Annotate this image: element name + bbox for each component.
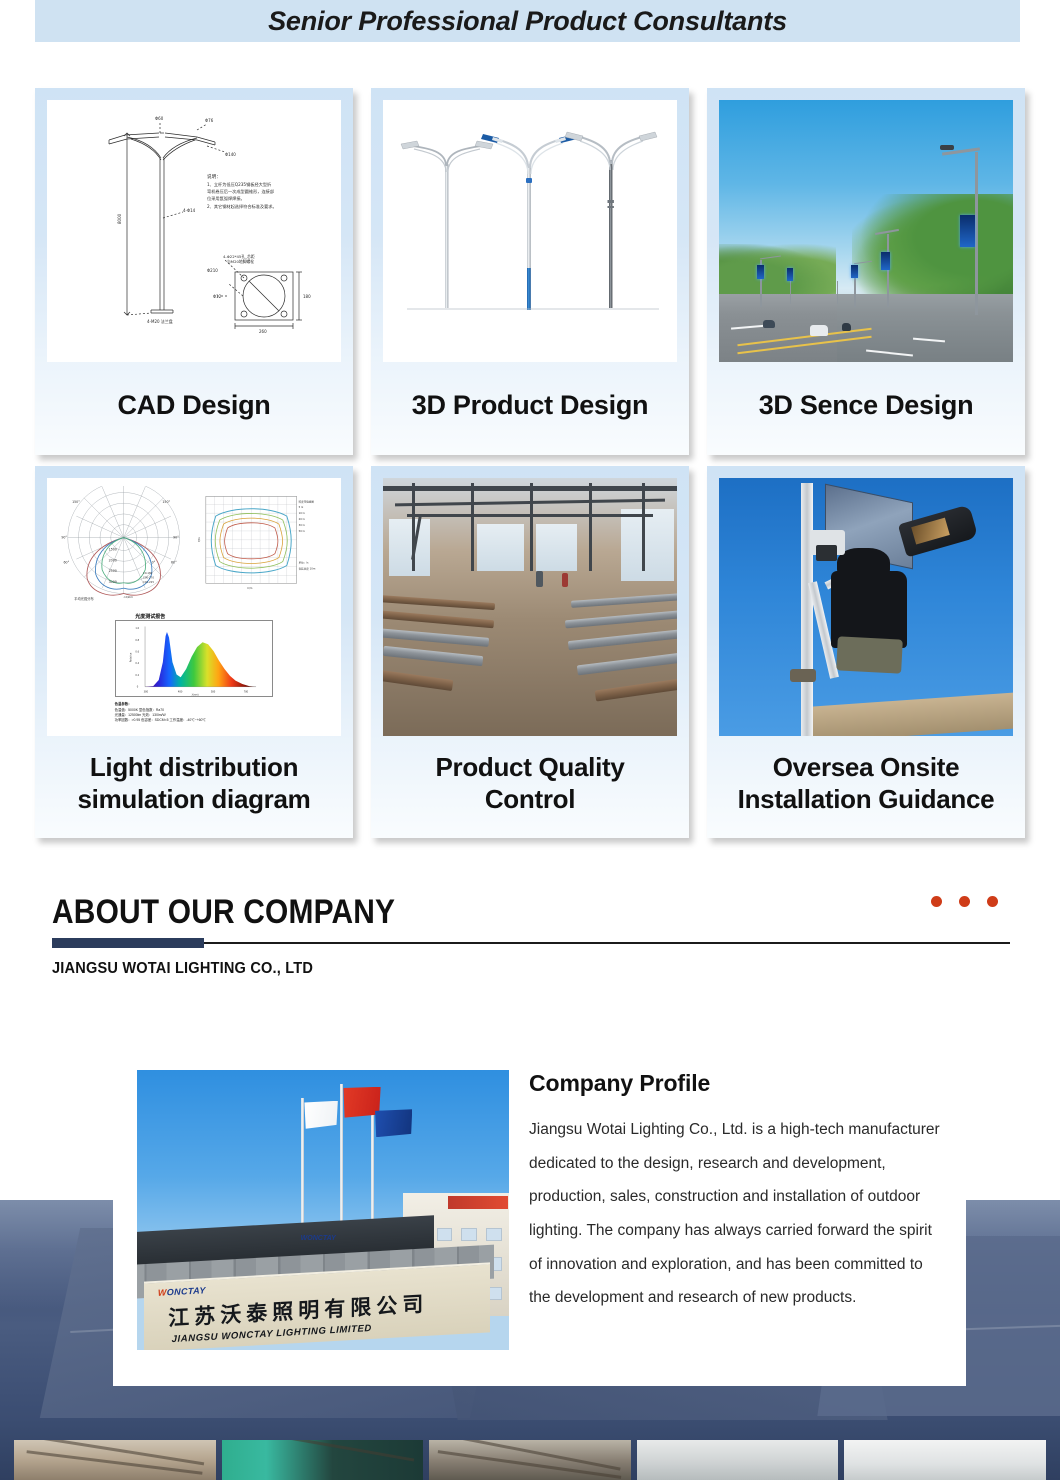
led-pole-banner-left (757, 265, 764, 279)
steel-pipe-l1 (383, 595, 495, 610)
svg-text:8000: 8000 (117, 213, 122, 224)
isolux-utilization-diagram: 照度等值线图 5 lx10 lx 20 lx30 lx 50 lx E/lx C… (194, 488, 332, 602)
svg-text:安装高度 10m: 安装高度 10m (299, 567, 316, 571)
led-pole-banner-mid (881, 252, 890, 270)
steel-pipe-r1 (571, 593, 677, 608)
svg-text:4-Φ14: 4-Φ14 (183, 208, 196, 213)
svg-text:C/m: C/m (247, 586, 253, 590)
roof-logo-text: WONCTAY (301, 1235, 336, 1242)
about-decor-dots (931, 896, 998, 907)
service-card-cad-design[interactable]: Φ60 Φ76 Φ140 8000 4-Φ14 4-M20 法兰盘 4-Φ22*… (35, 88, 353, 455)
column-3 (530, 483, 533, 571)
car-far (842, 323, 851, 331)
service-card-product-quality-control[interactable]: Product Quality Control (371, 466, 689, 838)
svg-text:2000: 2000 (108, 558, 116, 562)
cad-drawing: Φ60 Φ76 Φ140 8000 4-Φ14 4-M20 法兰盘 4-Φ22*… (47, 100, 341, 362)
page-title-band: Senior Professional Product Consultants (35, 0, 1020, 42)
lamp-mast (801, 483, 813, 736)
company-profile-text: Company Profile Jiangsu Wotai Lighting C… (509, 1038, 966, 1386)
flag-blue-company (375, 1109, 412, 1137)
photometric-report: 150°150° 90°90° 60°60° 15002000 25003000… (47, 478, 341, 736)
svg-text:580: 580 (210, 690, 215, 693)
steel-pipe-r3 (568, 629, 677, 650)
steel-pipe-r2 (565, 609, 677, 628)
onsite-installation-media (719, 478, 1013, 736)
three-lamp-poles-media (383, 100, 677, 362)
factory-workshop-media (383, 478, 677, 736)
svg-text:C45-225: C45-225 (143, 579, 154, 583)
about-divider (52, 938, 1010, 948)
worker-1 (536, 571, 543, 587)
svg-text:1.0: 1.0 (135, 627, 139, 630)
service-card-label: Product Quality Control (383, 736, 677, 838)
worker-2 (562, 573, 568, 587)
decor-dot-3 (987, 896, 998, 907)
workshop-window-left (389, 519, 430, 576)
service-card-label: Light distribution simulation diagram (47, 736, 341, 838)
svg-text:C90-270: C90-270 (143, 575, 154, 579)
company-profile-panel: WONCTAY WONCTAY 江苏沃泰照明有限公司 JIANGSU WONCT… (113, 1038, 966, 1386)
factory-workshop-photo (383, 478, 677, 736)
led-pole-banner-3 (851, 265, 857, 278)
about-heading: ABOUT OUR COMPANY (52, 893, 895, 932)
svg-text:位采用氩弧焊焊接。: 位采用氩弧焊焊接。 (207, 195, 245, 202)
svg-text:Φ76: Φ76 (205, 118, 214, 123)
workshop-window-center-2 (536, 524, 577, 570)
about-divider-accent-bar (52, 938, 204, 948)
thumbnail-workshop-1 (14, 1440, 216, 1480)
svg-text:0.8: 0.8 (135, 639, 139, 642)
svg-text:5 lx: 5 lx (299, 506, 304, 510)
thumbnail-office-5 (844, 1440, 1046, 1480)
svg-text:90°: 90° (173, 535, 179, 539)
spec-line-3: 功率因数：>0.95 色容差：SDCM<5 工作温度：-40℃~+60℃ (115, 718, 321, 723)
svg-text:60°: 60° (171, 560, 177, 564)
svg-text:1、立杆为低压Q235钢板经大型折: 1、立杆为低压Q235钢板经大型折 (207, 181, 271, 188)
worker-shoe (790, 669, 816, 682)
svg-text:Φ210: Φ210 (207, 268, 218, 273)
flag-white-company (304, 1101, 337, 1129)
svg-text:平均光强分布: 平均光强分布 (74, 596, 94, 601)
svg-text:50 lx: 50 lx (299, 529, 306, 533)
svg-text:150°: 150° (162, 500, 170, 504)
street-scene-media (719, 100, 1013, 362)
svg-text:380: 380 (143, 690, 148, 693)
lamp-poles-illustration (383, 100, 677, 362)
company-gate-sign-photo: WONCTAY WONCTAY 江苏沃泰照明有限公司 JIANGSU WONCT… (137, 1070, 509, 1350)
svg-text:与M20地脚螺栓: 与M20地脚螺栓 (227, 259, 254, 264)
cctv-camera (816, 545, 837, 560)
steel-pipe-l4 (383, 646, 483, 666)
about-subheading: JIANGSU WOTAI LIGHTING CO., LTD (52, 960, 953, 978)
service-card-label: 3D Sence Design (719, 362, 1013, 455)
service-card-3d-product-design[interactable]: 3D Product Design (371, 88, 689, 455)
cad-drawing-media: Φ60 Φ76 Φ140 8000 4-Φ14 4-M20 法兰盘 4-Φ22*… (47, 100, 341, 362)
decor-dot-1 (931, 896, 942, 907)
svg-text:弯机卷压后一次成型圆锥形，连接部: 弯机卷压后一次成型圆锥形，连接部 (207, 188, 274, 195)
decor-dot-2 (959, 896, 970, 907)
svg-text:780: 780 (243, 690, 248, 693)
svg-text:10 lx: 10 lx (299, 511, 306, 515)
svg-text:照度等值线图: 照度等值线图 (299, 500, 315, 504)
svg-text:20 lx: 20 lx (299, 517, 306, 521)
svg-text:4-M20 法兰盘: 4-M20 法兰盘 (147, 318, 173, 324)
svg-text:60°: 60° (63, 560, 69, 564)
svg-text:30 lx: 30 lx (299, 523, 306, 527)
svg-text:0.2: 0.2 (135, 674, 139, 677)
service-card-label: 3D Product Design (383, 362, 677, 455)
svg-text:2、其它钢材起选择符合标准及要求。: 2、其它钢材起选择符合标准及要求。 (207, 203, 277, 210)
svg-text:260: 260 (259, 329, 267, 334)
worker-legs (836, 636, 902, 673)
steel-pipe-l2 (383, 609, 495, 628)
steel-pipe-l5 (383, 668, 454, 691)
svg-text:单位：lx: 单位：lx (299, 561, 309, 565)
svg-text:Φ60: Φ60 (155, 116, 164, 121)
svg-text:说明：: 说明： (207, 173, 221, 180)
svg-text:Relative: Relative (129, 652, 132, 662)
svg-text:1500: 1500 (108, 547, 116, 551)
service-cards-grid: Φ60 Φ76 Φ140 8000 4-Φ14 4-M20 法兰盘 4-Φ22*… (35, 88, 1025, 838)
thumbnail-workshop-3 (429, 1440, 631, 1480)
svg-text:0: 0 (136, 685, 138, 688)
luminaire-head-near (940, 145, 955, 150)
rooftop-parapet (801, 692, 1013, 736)
street-lamp-pole-3 (837, 281, 838, 305)
street-lamp-pole-near (975, 152, 978, 314)
thumbnail-warehouse-4 (637, 1440, 839, 1480)
company-profile-title: Company Profile (529, 1070, 940, 1097)
about-section-header: ABOUT OUR COMPANY JIANGSU WOTAI LIGHTING… (52, 893, 1010, 978)
svg-text:cd/klm: cd/klm (123, 595, 133, 599)
car-white (810, 325, 828, 335)
svg-text:C0-180: C0-180 (143, 571, 153, 575)
service-card-label: Oversea Onsite Installation Guidance (719, 736, 1013, 838)
service-card-label: CAD Design (47, 362, 341, 455)
service-card-3d-sence-design[interactable]: 3D Sence Design (707, 88, 1025, 455)
building-red-sign (448, 1196, 508, 1210)
steel-pipe-r5 (594, 678, 677, 702)
led-pole-banner-near (960, 215, 975, 246)
svg-text:180: 180 (303, 294, 311, 299)
svg-text:3000: 3000 (108, 579, 116, 583)
svg-text:E/lx: E/lx (197, 537, 201, 542)
svg-text:0°: 0° (151, 560, 155, 564)
onsite-installation-photo (719, 478, 1013, 736)
thumbnail-workshop-green-2 (222, 1440, 424, 1480)
svg-text:Φ140: Φ140 (225, 152, 236, 157)
thumbnail-strip (0, 1440, 1060, 1480)
steel-pipe-l3 (383, 628, 489, 647)
photometric-spec-lines: 色温参数： 色温值：5000K 显色指数：Ra70 光通量：12500lm 光效… (115, 702, 321, 722)
street-lamp-pole-mid (887, 234, 889, 307)
led-pole-banner-2 (787, 268, 793, 281)
svg-text:0.6: 0.6 (135, 650, 139, 653)
column-4 (589, 483, 592, 571)
page-title: Senior Professional Product Consultants (268, 6, 787, 37)
service-card-oversea-installation[interactable]: Oversea Onsite Installation Guidance (707, 466, 1025, 838)
svg-text:2500: 2500 (108, 569, 116, 573)
flag-china-national (343, 1087, 380, 1118)
column-5 (642, 483, 645, 571)
column-2 (471, 483, 474, 571)
street-scene-render (719, 100, 1013, 362)
service-card-light-distribution[interactable]: 150°150° 90°90° 60°60° 15002000 25003000… (35, 466, 353, 838)
photometric-charts-media: 150°150° 90°90° 60°60° 15002000 25003000… (47, 478, 341, 736)
svg-text:150°: 150° (72, 500, 80, 504)
signboard-chinese-text: 江苏沃泰照明有限公司 (169, 1288, 429, 1333)
steel-pipe-r4 (577, 652, 677, 675)
svg-text:Φ12: Φ12 (213, 294, 222, 299)
wonctay-logo: WONCTAY (158, 1285, 206, 1298)
svg-text:0.4: 0.4 (135, 662, 139, 665)
page-root: Senior Professional Product Consultants (0, 0, 1060, 1480)
workshop-window-right (621, 509, 674, 581)
workshop-window-center (477, 524, 524, 570)
company-profile-body: Jiangsu Wotai Lighting Co., Ltd. is a hi… (529, 1113, 940, 1315)
polar-light-distribution-curve: 150°150° 90°90° 60°60° 15002000 25003000… (59, 486, 188, 615)
car-dark (763, 320, 775, 328)
svg-text:480: 480 (178, 690, 183, 693)
spectral-power-distribution: 1.00.8 0.60.4 0.20 380480 580780 Relativ… (115, 620, 274, 697)
svg-text:λ(nm): λ(nm) (191, 694, 198, 697)
svg-text:90°: 90° (61, 535, 67, 539)
